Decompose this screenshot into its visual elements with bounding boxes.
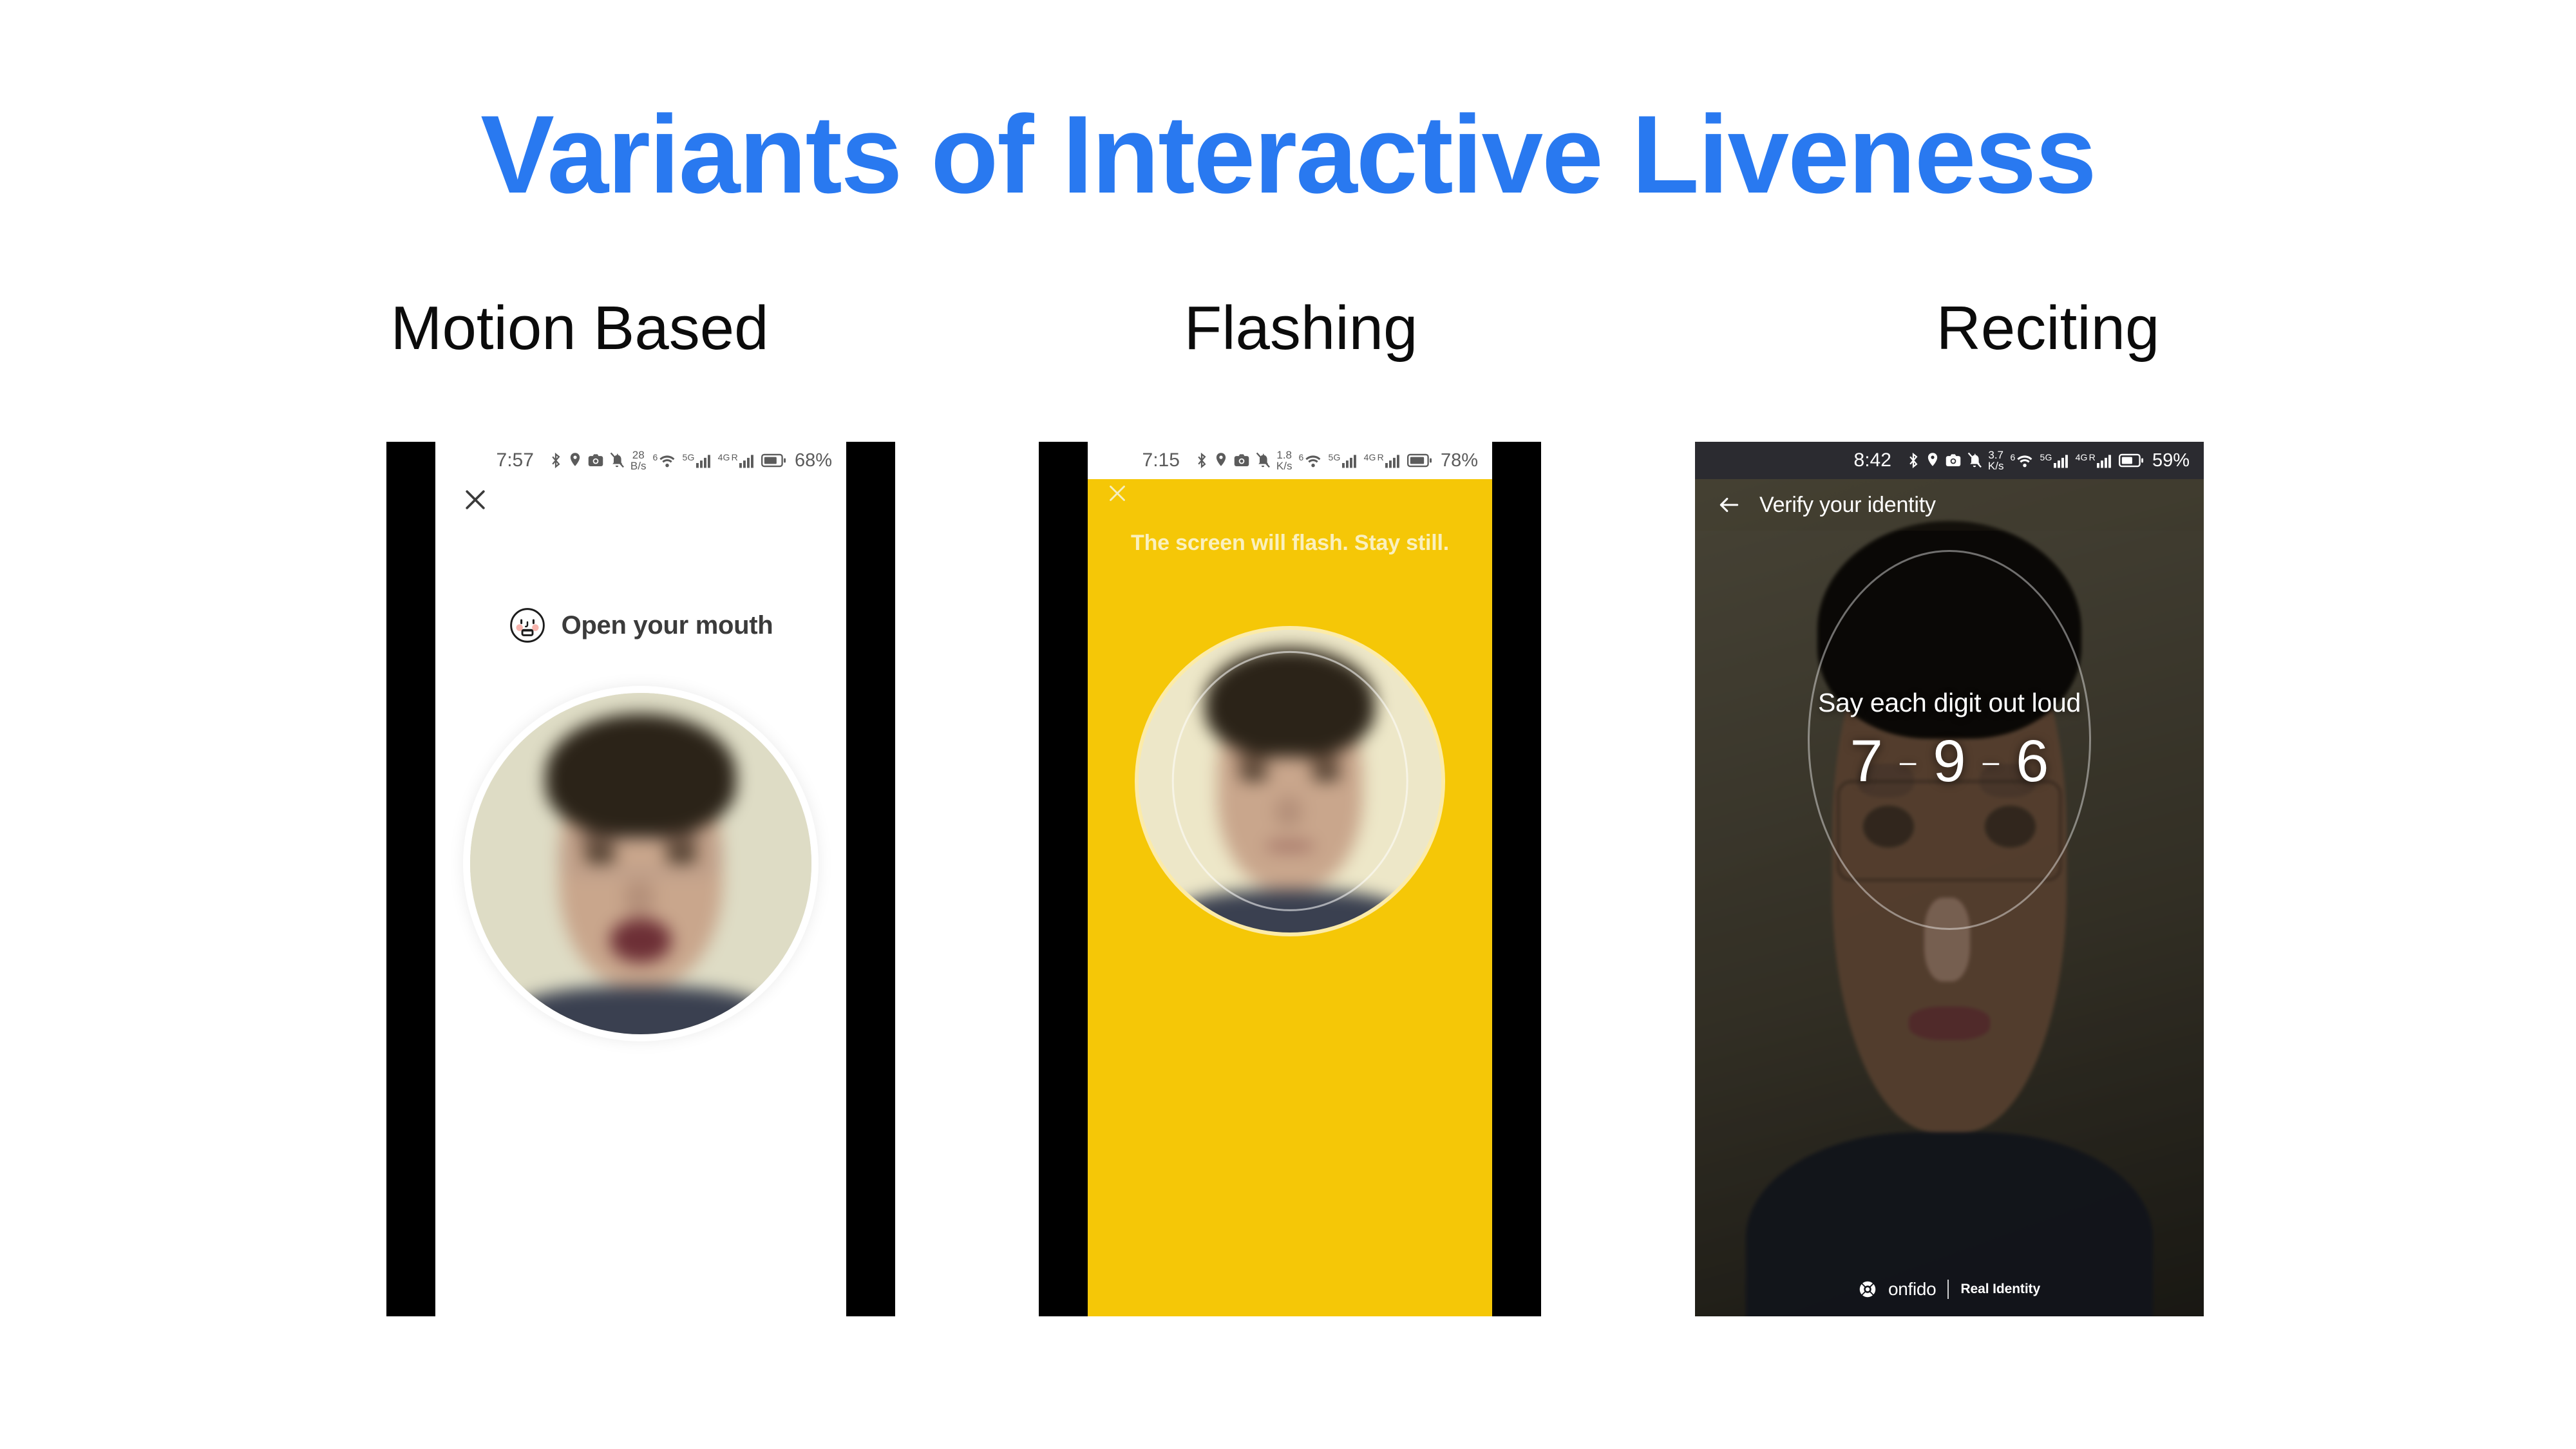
data-rate-unit: K/s (1988, 460, 2004, 471)
status-bar-flashing: 7:15 1.8 K/s 6 (1088, 442, 1492, 479)
column-heading-reciting: Reciting (1623, 293, 2473, 364)
screen-reciting: 8:42 3.7 K/s 6 (1695, 442, 2204, 1316)
roaming-label: R (1378, 453, 1384, 462)
page-title: Variants of Interactive Liveness (0, 97, 2576, 213)
open-mouth-face-icon (509, 607, 546, 644)
signal-indicator-sim2: 4G R (1364, 453, 1401, 468)
challenge-digit-2: 9 (1933, 732, 1965, 791)
signal-indicator-sim2: 4G R (2076, 453, 2112, 468)
battery-percent: 68% (795, 450, 832, 471)
phone-screenshot-reciting: 8:42 3.7 K/s 6 (1695, 442, 2204, 1316)
signal-icon (1342, 454, 1358, 468)
battery-percent: 59% (2152, 450, 2190, 471)
status-bar-motion: 7:57 28 B/s 6 (435, 442, 846, 479)
mute-bell-icon (1256, 452, 1270, 469)
network-type-label-sim1: 5G (1328, 453, 1340, 462)
signal-indicator-sim1: 5G (1328, 453, 1357, 468)
face-image (470, 693, 811, 1034)
signal-indicator-sim2: 4G R (718, 453, 755, 468)
location-icon (1215, 452, 1227, 469)
phone-screenshot-flashing: 7:15 1.8 K/s 6 (1039, 442, 1541, 1316)
battery-percent: 78% (1441, 450, 1478, 471)
wifi-generation-label: 6 (1298, 453, 1303, 462)
network-type-label-sim2: 4G (2076, 453, 2088, 462)
camera-icon (1234, 453, 1249, 468)
status-bar-reciting: 8:42 3.7 K/s 6 (1695, 442, 2204, 479)
roaming-label: R (2089, 453, 2096, 462)
signal-indicator-sim1: 5G (2040, 453, 2069, 468)
flash-instruction-label: The screen will flash. Stay still. (1088, 531, 1492, 556)
selfie-camera-preview (470, 693, 811, 1034)
recite-instruction-label: Say each digit out loud (1695, 688, 2204, 718)
status-time: 7:57 (497, 450, 534, 471)
wifi-generation-label: 6 (652, 453, 658, 462)
slide-canvas: Variants of Interactive Liveness Motion … (0, 0, 2576, 1449)
back-arrow-icon[interactable] (1717, 493, 1741, 517)
onfido-product-label: Real Identity (1960, 1282, 2040, 1297)
bluetooth-icon (1195, 452, 1208, 469)
data-rate-value: 28 (632, 450, 645, 460)
wifi-indicator: 6 (652, 453, 676, 468)
signal-icon (2054, 454, 2069, 468)
data-rate-indicator: 1.8 K/s (1276, 450, 1293, 471)
signal-icon (696, 454, 712, 468)
data-rate-unit: K/s (1276, 460, 1293, 471)
onfido-branding: onfido Real Identity (1695, 1279, 2204, 1300)
signal-icon (1385, 454, 1401, 468)
close-icon[interactable] (1106, 482, 1129, 505)
status-time: 8:42 (1854, 450, 1891, 471)
phone-screenshot-motion-based: 7:57 28 B/s 6 (386, 442, 895, 1316)
location-icon (569, 452, 582, 469)
mute-bell-icon (1967, 452, 1982, 469)
data-rate-indicator: 28 B/s (630, 450, 647, 471)
wifi-indicator: 6 (2010, 453, 2033, 468)
signal-icon (739, 454, 755, 468)
app-bar-title: Verify your identity (1759, 493, 1936, 518)
battery-icon (761, 453, 786, 468)
battery-icon (2119, 453, 2143, 468)
network-type-label-sim2: 4G (1364, 453, 1376, 462)
screen-flashing: 7:15 1.8 K/s 6 (1088, 442, 1492, 1316)
column-heading-motion: Motion Based (258, 293, 902, 364)
branding-divider (1947, 1280, 1949, 1299)
data-rate-unit: B/s (630, 460, 647, 471)
column-heading-flashing: Flashing (979, 293, 1623, 364)
battery-icon (1407, 453, 1432, 468)
signal-indicator-sim1: 5G (682, 453, 711, 468)
onfido-wordmark: onfido (1888, 1279, 1937, 1300)
onfido-logo-icon (1859, 1280, 1877, 1298)
network-type-label-sim2: 4G (718, 453, 730, 462)
wifi-generation-label: 6 (2010, 453, 2015, 462)
challenge-digit-1: 7 (1850, 732, 1883, 791)
camera-icon (588, 453, 603, 468)
close-icon[interactable] (461, 486, 489, 514)
data-rate-value: 1.8 (1276, 450, 1292, 460)
challenge-digit-3: 6 (2016, 732, 2049, 791)
wifi-icon (1305, 454, 1321, 468)
mute-bell-icon (610, 452, 624, 469)
liveness-prompt: Open your mouth (435, 607, 846, 644)
network-type-label-sim1: 5G (2040, 453, 2052, 462)
signal-icon (2097, 454, 2112, 468)
roaming-label: R (732, 453, 738, 462)
wifi-icon (2016, 454, 2033, 468)
location-icon (1926, 452, 1939, 469)
camera-feed (1695, 479, 2204, 1316)
status-time: 7:15 (1142, 450, 1180, 471)
bluetooth-icon (549, 452, 562, 469)
face-image (1139, 630, 1441, 933)
prompt-label: Open your mouth (562, 611, 773, 640)
app-bar: Verify your identity (1695, 479, 2204, 531)
data-rate-indicator: 3.7 K/s (1988, 450, 2004, 471)
digit-challenge: 7 – 9 – 6 (1695, 732, 2204, 791)
bluetooth-icon (1907, 452, 1920, 469)
wifi-indicator: 6 (1298, 453, 1321, 468)
screen-motion-based: 7:57 28 B/s 6 (435, 442, 846, 1316)
data-rate-value: 3.7 (1988, 450, 2003, 460)
selfie-camera-preview (1139, 630, 1441, 933)
digit-separator-2: – (1983, 746, 2000, 776)
network-type-label-sim1: 5G (682, 453, 694, 462)
digit-separator-1: – (1900, 746, 1917, 776)
wifi-icon (659, 454, 676, 468)
camera-icon (1946, 453, 1961, 468)
